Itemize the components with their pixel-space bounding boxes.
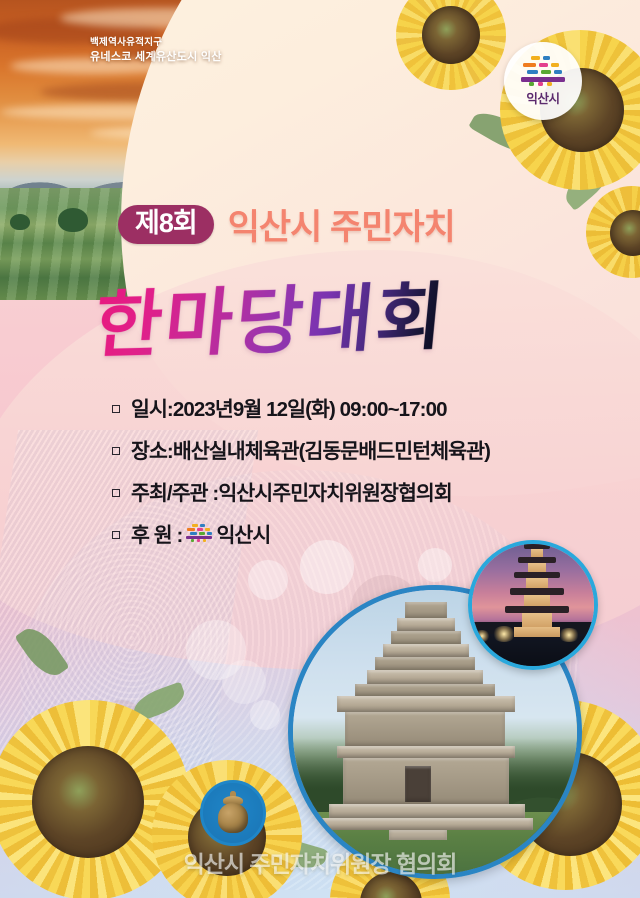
vessel-body	[218, 803, 248, 833]
heritage-line-2: 유네스코 세계유산도시 익산	[90, 50, 222, 66]
pagoda-tier	[528, 563, 546, 572]
pagoda-roof	[355, 684, 495, 696]
info-label: 장소:	[131, 434, 173, 464]
bokeh-circle	[248, 560, 288, 600]
light-glow	[558, 628, 580, 642]
pagoda-roof	[524, 542, 550, 549]
bronze-sarira-reliquary-vessel-photo	[200, 780, 266, 846]
pagoda-tier	[526, 578, 548, 588]
footer-organization: 익산시 주민자치위원장 협의회	[0, 845, 640, 879]
tree	[58, 208, 88, 232]
iksan-logo-label: 익산시	[526, 88, 559, 107]
tree	[10, 214, 30, 230]
sunflower	[586, 186, 640, 278]
info-value-post: (화) 09:00~17:00	[305, 392, 447, 422]
info-value-bold: 9월 12일	[233, 392, 305, 422]
bokeh-circle	[222, 660, 266, 704]
pagoda-tier	[375, 657, 475, 670]
iksan-city-logo: 익산시	[504, 42, 582, 120]
pagoda-body	[345, 712, 505, 746]
brush-title: 한마당대회	[90, 257, 452, 372]
pagoda-tier	[522, 613, 552, 627]
pagoda-platform	[329, 804, 525, 818]
light-glow	[492, 626, 516, 642]
info-label: 주최/주관 :	[131, 476, 218, 506]
pagoda-tier	[531, 549, 543, 557]
bokeh-circle	[250, 700, 280, 730]
pagoda-roof	[505, 606, 569, 613]
pagoda-base	[514, 627, 560, 637]
heritage-line-1: 백제역사유적지구	[90, 36, 222, 50]
edition-badge: 제8회	[118, 205, 214, 245]
info-row-sponsor: 후 원 : 익산시	[112, 518, 490, 548]
vessel-icon	[216, 791, 250, 835]
pagoda-tier	[397, 618, 455, 631]
event-poster: 백제역사유적지구 유네스코 세계유산도시 익산 익산시	[0, 0, 640, 898]
square-bullet-icon	[112, 405, 120, 413]
pagoda-roof	[510, 588, 564, 595]
pagoda-roof	[337, 696, 515, 712]
square-bullet-icon	[112, 489, 120, 497]
sunflower	[396, 0, 506, 90]
info-value-pre: 2023년	[173, 392, 233, 422]
info-label: 후 원 :	[131, 518, 182, 548]
pagoda-tier	[391, 631, 461, 644]
square-bullet-icon	[112, 531, 120, 539]
pagoda-tier	[524, 595, 550, 606]
light-glow	[474, 630, 490, 642]
pagoda-platform	[321, 818, 533, 830]
heritage-header: 백제역사유적지구 유네스코 세계유산도시 익산	[90, 36, 222, 66]
pagoda-doorway	[405, 766, 431, 802]
title-row: 제8회 익산시 주민자치	[118, 199, 455, 250]
pagoda-tier	[367, 670, 483, 684]
info-value-pre: 익산시주민자치위원장협의회	[218, 476, 451, 506]
info-row-date: 일시: 2023년 9월 12일 (화) 09:00~17:00	[112, 392, 490, 422]
square-bullet-icon	[112, 447, 120, 455]
pagoda-stairs	[389, 830, 447, 840]
info-label: 일시:	[131, 392, 173, 422]
pagoda-tier	[405, 602, 447, 618]
title-main: 익산시 주민자치	[228, 199, 455, 250]
pagoda-cornice	[337, 746, 515, 758]
info-value-pre: 익산시	[216, 518, 270, 548]
iksan-logo-mark-icon	[185, 524, 213, 542]
info-value-pre: 배산실내체육관(김동문배드민턴체육관)	[173, 434, 490, 464]
info-row-venue: 장소: 배산실내체육관(김동문배드민턴체육관)	[112, 434, 490, 464]
event-info-list: 일시: 2023년 9월 12일 (화) 09:00~17:00 장소: 배산실…	[112, 392, 490, 560]
iksan-logo-mark-icon	[519, 56, 567, 86]
pagoda-tier	[383, 644, 469, 657]
info-row-organizer: 주최/주관 : 익산시주민자치위원장협의회	[112, 476, 490, 506]
